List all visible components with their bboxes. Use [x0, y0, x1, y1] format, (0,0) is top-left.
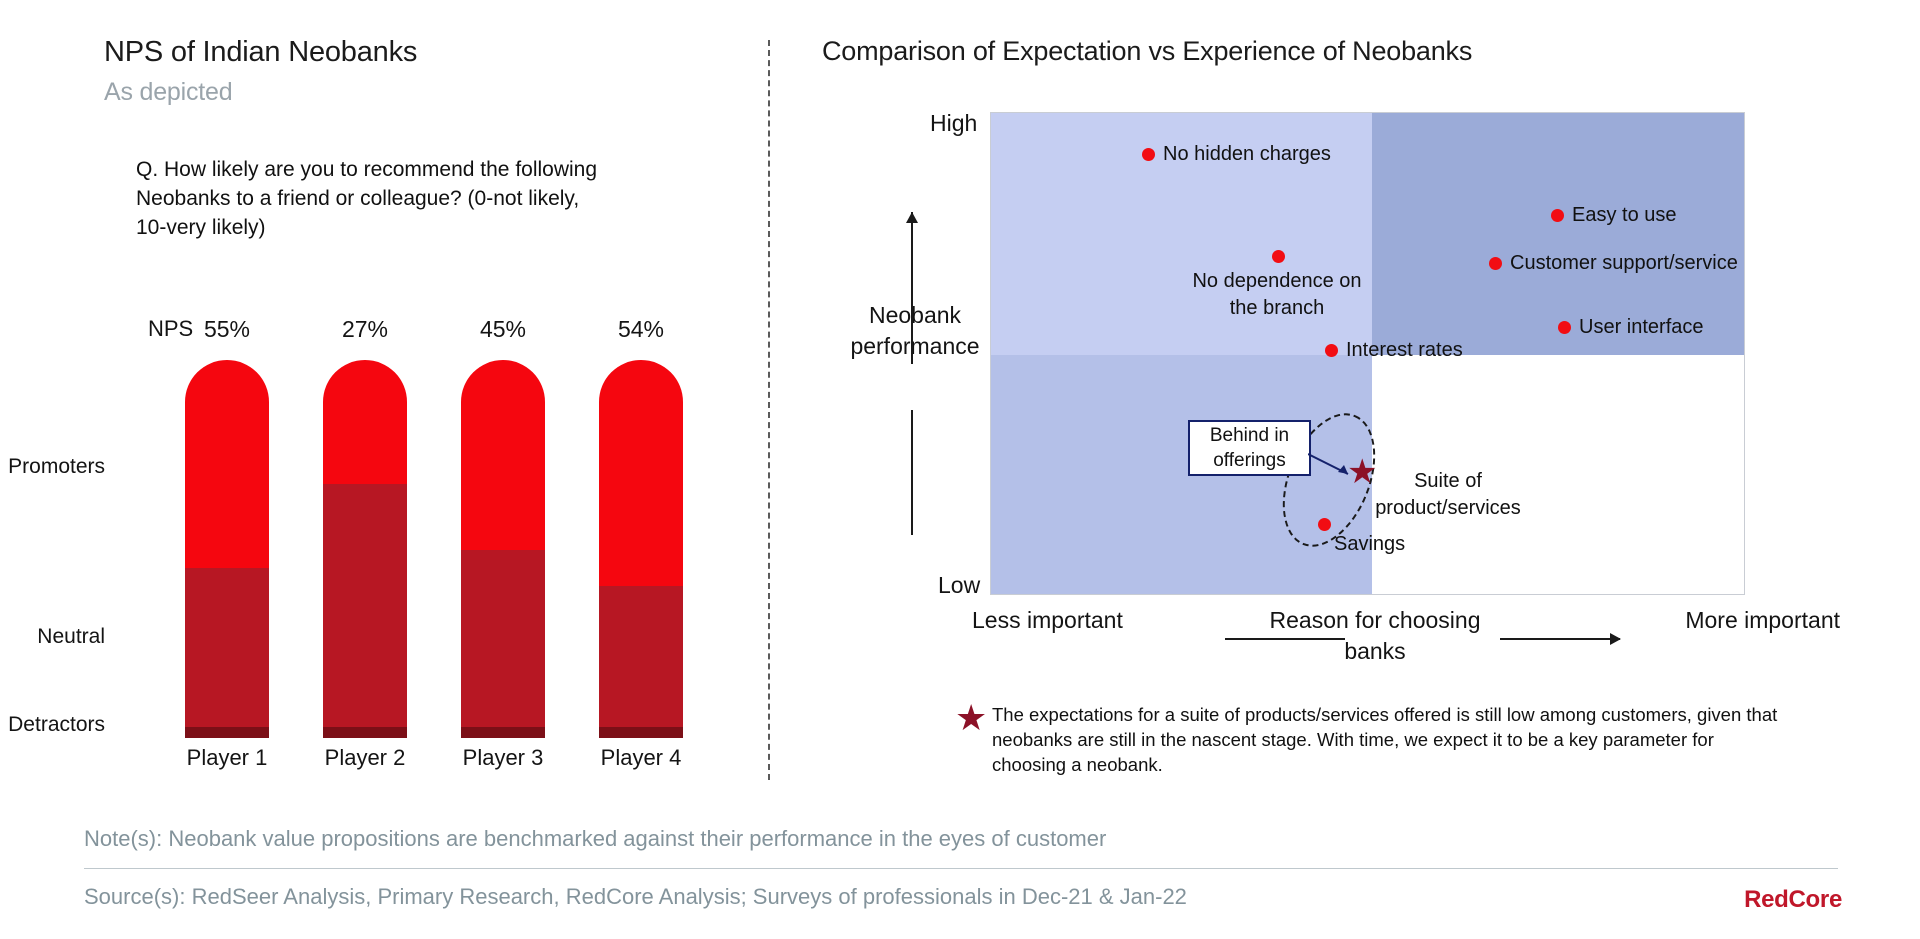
- x-axis-line: [1225, 638, 1345, 640]
- callout-line-2: offerings: [1213, 450, 1286, 471]
- bar-segment-detractors: [323, 727, 407, 738]
- x-axis-less-important-label: Less important: [972, 605, 1132, 636]
- x-label-player-2: Player 2: [300, 745, 430, 771]
- nps-value-player-4: 54%: [596, 316, 686, 343]
- dot-customer-support: [1489, 257, 1502, 270]
- point-label-suite-of-products: Suite of product/services: [1328, 468, 1568, 522]
- nps-value-player-2: 27%: [320, 316, 410, 343]
- y-axis-high-label: High: [930, 110, 977, 137]
- y-axis-line: [911, 410, 913, 535]
- bar-segment-detractors: [461, 727, 545, 738]
- bar-segment-promoters: [461, 360, 545, 550]
- footnote-star-icon: ★: [955, 700, 987, 736]
- nps-value-player-3: 45%: [458, 316, 548, 343]
- point-label-user-interface: User interface: [1579, 316, 1704, 339]
- point-label-line-2: the branch: [1230, 297, 1325, 319]
- x-label-player-3: Player 3: [438, 745, 568, 771]
- left-panel-title: NPS of Indian Neobanks: [104, 36, 417, 69]
- point-label-no-dependence-on-branch: No dependence on the branch: [1147, 268, 1407, 322]
- x-label-player-1: Player 1: [162, 745, 292, 771]
- footer-divider: [84, 868, 1838, 869]
- nps-value-player-1: 55%: [182, 316, 272, 343]
- bar-segment-promoters: [185, 360, 269, 568]
- point-label-line-2: product/services: [1375, 497, 1521, 519]
- bar-segment-neutral: [323, 484, 407, 727]
- footer-source: Source(s): RedSeer Analysis, Primary Res…: [84, 884, 1187, 910]
- x-axis-more-important-label: More important: [1680, 605, 1840, 636]
- bar-segment-promoters: [599, 360, 683, 586]
- point-label-easy-to-use: Easy to use: [1572, 204, 1677, 227]
- dot-interest-rates: [1325, 344, 1338, 357]
- category-label-detractors: Detractors: [0, 713, 105, 737]
- x-label-player-4: Player 4: [576, 745, 706, 771]
- dot-no-hidden-charges: [1142, 148, 1155, 161]
- point-label-customer-support: Customer support/service: [1510, 252, 1738, 275]
- infographic-canvas: NPS of Indian Neobanks As depicted Q. Ho…: [0, 0, 1920, 939]
- left-panel-subtitle: As depicted: [104, 78, 232, 107]
- footnote-text: The expectations for a suite of products…: [992, 702, 1782, 777]
- point-label-interest-rates: Interest rates: [1346, 339, 1463, 362]
- survey-question: Q. How likely are you to recommend the f…: [136, 155, 606, 242]
- x-axis-title: Reason for choosing banks: [1255, 605, 1495, 667]
- dot-savings: [1318, 518, 1331, 531]
- category-label-promoters: Promoters: [0, 455, 105, 479]
- y-axis-low-label: Low: [938, 572, 980, 599]
- dot-easy-to-use: [1551, 209, 1564, 222]
- panel-divider: [768, 40, 770, 780]
- point-label-line-1: Suite of: [1414, 470, 1482, 492]
- y-axis-arrow-icon: [911, 212, 913, 364]
- x-axis-arrow-icon: [1500, 638, 1620, 640]
- footer-notes: Note(s): Neobank value propositions are …: [84, 826, 1106, 852]
- brand-logo: RedCore: [1744, 886, 1842, 914]
- bar-segment-neutral: [599, 586, 683, 727]
- right-panel-title: Comparison of Expectation vs Experience …: [822, 36, 1472, 67]
- callout-text: Behind in offerings: [1210, 423, 1289, 473]
- y-axis-title: Neobank performance: [840, 300, 990, 362]
- point-label-no-hidden-charges: No hidden charges: [1163, 143, 1331, 166]
- bar-segment-detractors: [599, 727, 683, 738]
- callout-behind-in-offerings: Behind in offerings: [1188, 420, 1311, 476]
- category-label-neutral: Neutral: [0, 625, 105, 649]
- bar-segment-neutral: [461, 550, 545, 727]
- dot-user-interface: [1558, 321, 1571, 334]
- bar-segment-promoters: [323, 360, 407, 484]
- bar-segment-neutral: [185, 568, 269, 727]
- bar-segment-detractors: [185, 727, 269, 738]
- dot-no-dependence-on-branch: [1272, 250, 1285, 263]
- point-label-line-1: No dependence on: [1192, 270, 1361, 292]
- callout-line-1: Behind in: [1210, 425, 1289, 446]
- point-label-savings: Savings: [1334, 533, 1405, 556]
